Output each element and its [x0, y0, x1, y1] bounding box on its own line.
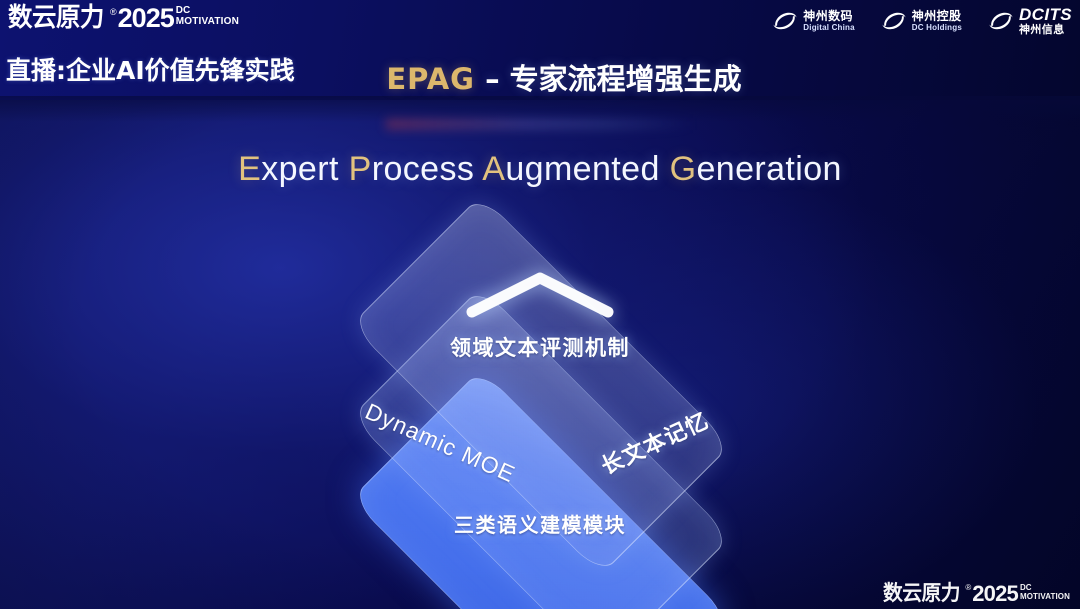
swoosh-icon [881, 10, 907, 32]
corp-name-cn: 神州数码 [803, 10, 855, 22]
page-title-acronym: EPAG [386, 62, 475, 96]
diagram-layer-middle [351, 287, 731, 609]
slide-root: 领域文本评测机制 Dynamic MOE 长文本记忆 三类语义建模模块 Expe… [0, 0, 1080, 609]
english-title: Expert Process Augmented Generation [0, 150, 1080, 189]
live-stream-title: 直播:企业AI价值先锋实践 [6, 51, 295, 87]
en-title-rest-3: ugmented [505, 150, 669, 188]
watermark-registered-mark: ® [965, 583, 971, 593]
event-logo-dc: DC [176, 6, 239, 16]
diagram-layer-bottom [351, 369, 731, 609]
diagram-label-dynamic-moe: Dynamic MOE [361, 398, 519, 488]
en-title-cap-p: P [349, 150, 372, 188]
corp-name-en: Digital China [803, 24, 855, 32]
en-title-cap-e: E [238, 150, 261, 188]
event-logo-motivation: MOTIVATION [176, 16, 239, 27]
corp-logo-dcits: DCITS 神州信息 [988, 6, 1072, 35]
watermark-dc-motivation: DC MOTIVATION [1020, 584, 1070, 601]
swoosh-icon [772, 10, 798, 32]
corporate-logo-group: 神州数码 Digital China 神州控股 DC Holdings [772, 6, 1072, 35]
diagram-label-bottom: 三类语义建模模块 [0, 509, 1080, 538]
corp-logo-text: 神州控股 DC Holdings [912, 10, 962, 32]
en-title-rest-2: rocess [372, 150, 483, 188]
corp-name-cn: 神州信息 [1019, 24, 1072, 35]
page-title-separator: – [475, 62, 510, 96]
corp-logo-text: 神州数码 Digital China [803, 10, 855, 32]
gradient-divider [392, 122, 688, 126]
en-title-cap-g: G [670, 150, 697, 188]
event-logo-dc-motivation: DC MOTIVATION [176, 6, 239, 27]
event-logo-year: 2025 [118, 4, 174, 32]
corp-logo-text: DCITS 神州信息 [1019, 6, 1072, 35]
corp-logo-dc-holdings: 神州控股 DC Holdings [881, 10, 962, 32]
event-logo-registered-mark: ® [110, 6, 117, 18]
swoosh-icon [988, 10, 1014, 32]
page-title-chinese: 专家流程增强生成 [510, 62, 742, 96]
event-logo-cn: 数云原力 [8, 4, 104, 32]
corp-name-en: DCITS [1019, 6, 1072, 23]
chevron-up-icon [464, 268, 616, 320]
diagram-label-long-text-memory: 长文本记忆 [595, 403, 714, 481]
event-logo: 数云原力 ® 2025 DC MOTIVATION [8, 4, 239, 32]
en-title-rest-1: xpert [261, 150, 348, 188]
watermark-cn: 数云原力 [883, 582, 960, 605]
watermark-motivation: MOTIVATION [1020, 592, 1070, 601]
diagram-label-top: 领域文本评测机制 [0, 332, 1080, 362]
en-title-rest-4: eneration [696, 150, 841, 188]
watermark-year: 2025 [972, 582, 1018, 605]
corp-logo-digital-china: 神州数码 Digital China [772, 10, 855, 32]
en-title-cap-a: A [482, 150, 505, 188]
corp-name-cn: 神州控股 [912, 10, 962, 22]
corp-name-en: DC Holdings [912, 24, 962, 32]
diagram-layer-top [351, 195, 731, 575]
watermark-dc: DC [1020, 584, 1070, 592]
watermark-logo: 数云原力 ® 2025 DC MOTIVATION [883, 582, 1070, 605]
